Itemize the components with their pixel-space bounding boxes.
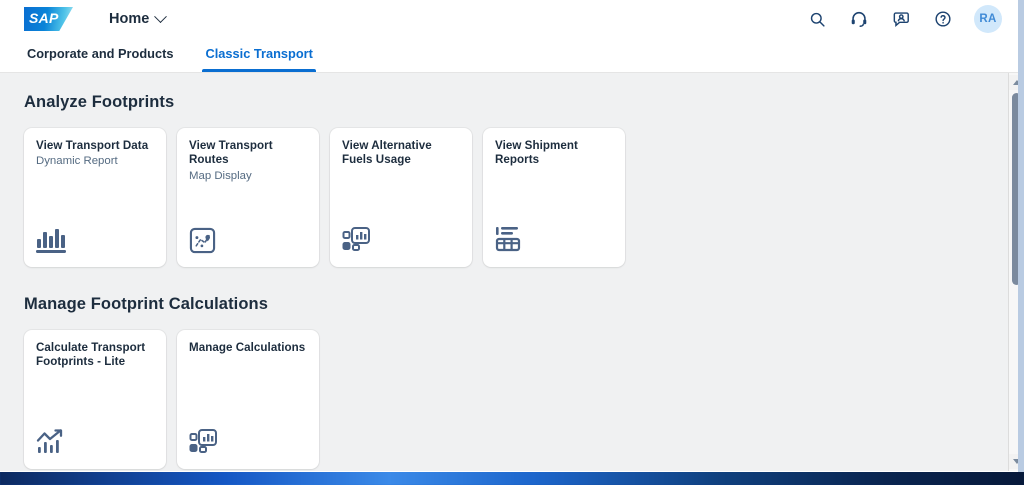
tile-title: View Transport Routes bbox=[189, 139, 307, 168]
shell-actions: RA bbox=[806, 5, 1012, 33]
avatar[interactable]: RA bbox=[974, 5, 1002, 33]
tile-row: View Transport Data Dynamic Report bbox=[24, 128, 984, 267]
business-objects-icon bbox=[189, 425, 307, 459]
tile-view-shipment-reports[interactable]: View Shipment Reports bbox=[483, 128, 625, 267]
section-title: Manage Footprint Calculations bbox=[24, 267, 984, 330]
list-report-icon bbox=[495, 223, 613, 257]
tile-subtitle: Dynamic Report bbox=[36, 154, 154, 168]
content-area: Analyze Footprints View Transport Data D… bbox=[0, 73, 1024, 471]
tile-title: Calculate Transport Footprints - Lite bbox=[36, 341, 154, 370]
tile-manage-calculations[interactable]: Manage Calculations bbox=[177, 330, 319, 469]
tile-title: View Transport Data bbox=[36, 139, 154, 153]
section-analyze-footprints: Analyze Footprints View Transport Data D… bbox=[0, 73, 1008, 267]
tile-view-transport-routes[interactable]: View Transport Routes Map Display bbox=[177, 128, 319, 267]
headset-icon[interactable] bbox=[848, 8, 870, 30]
business-objects-icon bbox=[342, 223, 460, 257]
bar-chart-icon bbox=[36, 223, 154, 257]
tile-title: Manage Calculations bbox=[189, 341, 307, 355]
shell-header: SAP Home bbox=[0, 0, 1024, 38]
map-route-icon bbox=[189, 223, 307, 257]
tile-subtitle: Map Display bbox=[189, 169, 307, 183]
window-right-edge bbox=[1018, 0, 1024, 472]
chevron-down-icon bbox=[154, 10, 167, 23]
feedback-icon[interactable] bbox=[890, 8, 912, 30]
sap-logo[interactable]: SAP bbox=[24, 7, 73, 31]
tile-view-transport-data[interactable]: View Transport Data Dynamic Report bbox=[24, 128, 166, 267]
home-menu-button[interactable]: Home bbox=[103, 7, 171, 31]
tab-label: Corporate and Products bbox=[27, 46, 173, 61]
tile-row: Calculate Transport Footprints - Lite bbox=[24, 330, 984, 469]
section-title: Analyze Footprints bbox=[24, 73, 984, 128]
tab-classic-transport[interactable]: Classic Transport bbox=[202, 38, 315, 72]
app-window: SAP Home bbox=[0, 0, 1024, 472]
search-icon[interactable] bbox=[806, 8, 828, 30]
tab-label: Classic Transport bbox=[205, 46, 312, 61]
help-icon[interactable] bbox=[932, 8, 954, 30]
content-scroll-region: Analyze Footprints View Transport Data D… bbox=[0, 73, 1008, 471]
tile-title: View Alternative Fuels Usage bbox=[342, 139, 460, 168]
tab-bar: Corporate and Products Classic Transport bbox=[0, 38, 1024, 73]
section-manage-footprint-calculations: Manage Footprint Calculations Calculate … bbox=[0, 267, 1008, 469]
tile-title: View Shipment Reports bbox=[495, 139, 613, 168]
sap-logo-text: SAP bbox=[29, 10, 59, 26]
home-menu-label: Home bbox=[109, 11, 149, 27]
tab-corporate-and-products[interactable]: Corporate and Products bbox=[24, 38, 176, 72]
tile-calculate-transport-footprints-lite[interactable]: Calculate Transport Footprints - Lite bbox=[24, 330, 166, 469]
tile-view-alternative-fuels-usage[interactable]: View Alternative Fuels Usage bbox=[330, 128, 472, 267]
trend-up-icon bbox=[36, 425, 154, 459]
